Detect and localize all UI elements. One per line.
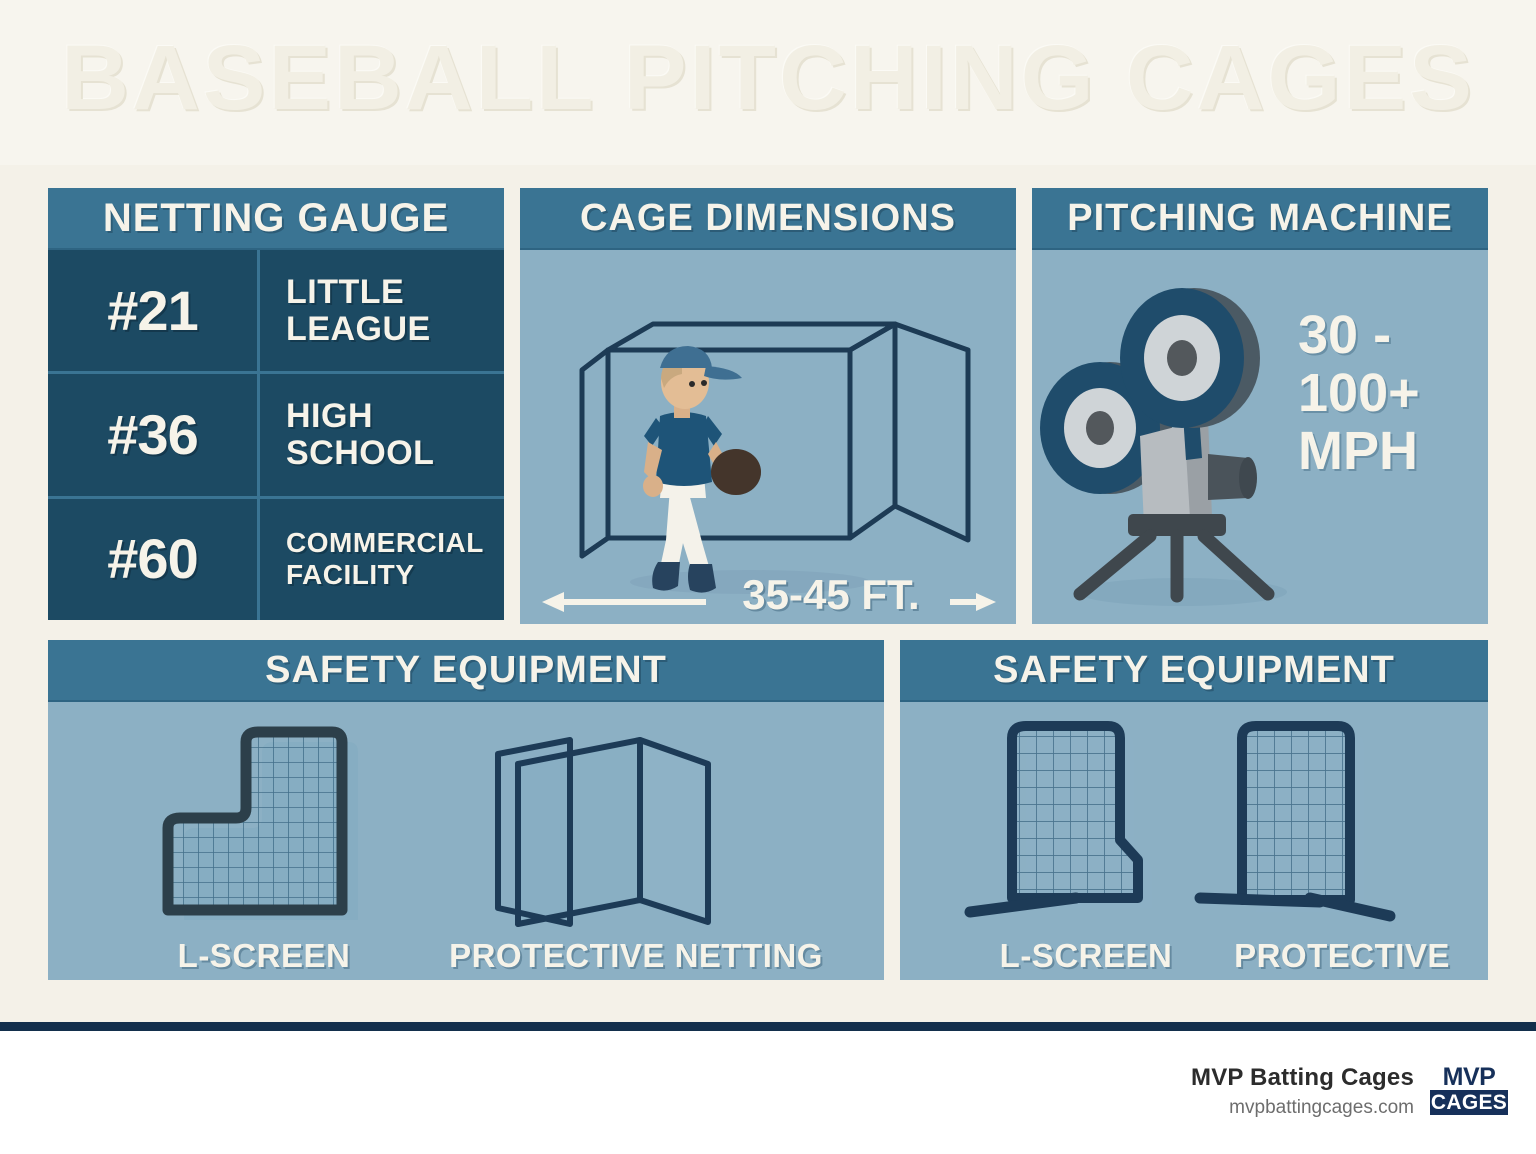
screen-foot [970, 898, 1076, 912]
speed-line-2: 100+ [1298, 364, 1474, 422]
speed-line-3: MPH [1298, 422, 1474, 480]
safety-left-caption-1: PROTECTIVE NETTING [426, 939, 846, 972]
netting-gauge-table: #21 LITTLELEAGUE #36 HIGHSCHOOL [48, 250, 504, 620]
level-cell: LITTLELEAGUE [260, 250, 504, 371]
footer-divider [0, 1022, 1536, 1031]
screen-foot [1200, 898, 1320, 902]
panel-cage-dimensions-title: CAGE DIMENSIONS [580, 199, 956, 237]
left-arrow-icon [542, 592, 564, 612]
panel-cage-dimensions: CAGE DIMENSIONS [520, 188, 1016, 624]
content-board: BASEBALL PITCHING CAGES NETTING GAUGE #2… [0, 0, 1536, 1022]
panel-netting-gauge-title: NETTING GAUGE [103, 199, 449, 237]
panel-pitching-machine-body: 30 - 100+ MPH [1032, 250, 1488, 624]
right-arrow-icon [976, 593, 996, 611]
logo-bottom-text: CAGES [1430, 1090, 1508, 1115]
baseball-player [643, 346, 761, 593]
panel-safety-equipment-right: SAFETY EQUIPMENT [900, 640, 1488, 980]
pitching-machine-illustration [1032, 250, 1332, 624]
protective-netting-illustration [498, 740, 708, 924]
brand-name: MVP Batting Cages [1191, 1063, 1414, 1093]
l-screen-illustration [168, 732, 358, 920]
safety-left-caption-0: L-SCREEN [112, 939, 416, 972]
brand-website[interactable]: mvpbattingcages.com [1191, 1095, 1414, 1121]
table-row: #21 LITTLELEAGUE [48, 250, 504, 374]
level-cell: HIGHSCHOOL [260, 374, 504, 495]
table-row: #36 HIGHSCHOOL [48, 374, 504, 498]
table-row: #60 COMMERCIALFACILITY [48, 499, 504, 620]
gauge-value: #60 [107, 531, 197, 587]
cage-illustration [520, 250, 1016, 624]
panel-netting-gauge: NETTING GAUGE #21 LITTLELEAGUE #36 [48, 188, 504, 620]
protective-screen-illustration [1200, 726, 1390, 916]
cage-dimension-label: 35-45 FT. [716, 574, 946, 616]
gauge-cell: #21 [48, 250, 260, 371]
mvp-cages-logo[interactable]: MVP CAGES [1430, 1065, 1508, 1115]
panel-safety-equipment-left-body: L-SCREEN PROTECTIVE NETTING [48, 702, 884, 980]
panel-cage-dimensions-body: 35-45 FT. [520, 250, 1016, 624]
level-label: LITTLELEAGUE [286, 274, 431, 348]
panel-safety-equipment-left-header: SAFETY EQUIPMENT [48, 640, 884, 702]
panel-safety-equipment-right-title: SAFETY EQUIPMENT [993, 651, 1395, 689]
machine-wheel-front [1120, 288, 1260, 428]
footer: MVP Batting Cages mvpbattingcages.com MV… [0, 1031, 1536, 1154]
l-screen-upright-illustration [970, 726, 1152, 912]
speed-line-1: 30 - [1298, 306, 1474, 364]
footer-brand: MVP Batting Cages mvpbattingcages.com [1191, 1063, 1414, 1121]
logo-top-text: MVP [1430, 1065, 1508, 1089]
level-label: COMMERCIALFACILITY [286, 527, 484, 591]
panel-cage-dimensions-header: CAGE DIMENSIONS [520, 188, 1016, 250]
panel-pitching-machine-header: PITCHING MACHINE [1032, 188, 1488, 250]
panel-netting-gauge-header: NETTING GAUGE [48, 188, 504, 250]
level-cell: COMMERCIALFACILITY [260, 499, 504, 620]
gauge-cell: #36 [48, 374, 260, 495]
panel-pitching-machine: PITCHING MACHINE [1032, 188, 1488, 624]
panel-safety-equipment-left: SAFETY EQUIPMENT [48, 640, 884, 980]
gauge-value: #21 [107, 283, 197, 339]
safety-right-caption-1: PROTECTIVE [1214, 939, 1470, 972]
machine-speed-range: 30 - 100+ MPH [1298, 306, 1474, 480]
panel-safety-equipment-right-header: SAFETY EQUIPMENT [900, 640, 1488, 702]
panel-safety-equipment-right-body: L-SCREEN PROTECTIVE [900, 702, 1488, 980]
panel-pitching-machine-title: PITCHING MACHINE [1067, 199, 1452, 237]
page-title: BASEBALL PITCHING CAGES [0, 32, 1536, 124]
gauge-cell: #60 [48, 499, 260, 620]
panel-safety-equipment-left-title: SAFETY EQUIPMENT [265, 651, 667, 689]
safety-right-caption-0: L-SCREEN [936, 939, 1236, 972]
level-label: HIGHSCHOOL [286, 398, 434, 472]
infographic-root: BASEBALL PITCHING CAGES NETTING GAUGE #2… [0, 0, 1536, 1154]
gauge-value: #36 [107, 407, 197, 463]
